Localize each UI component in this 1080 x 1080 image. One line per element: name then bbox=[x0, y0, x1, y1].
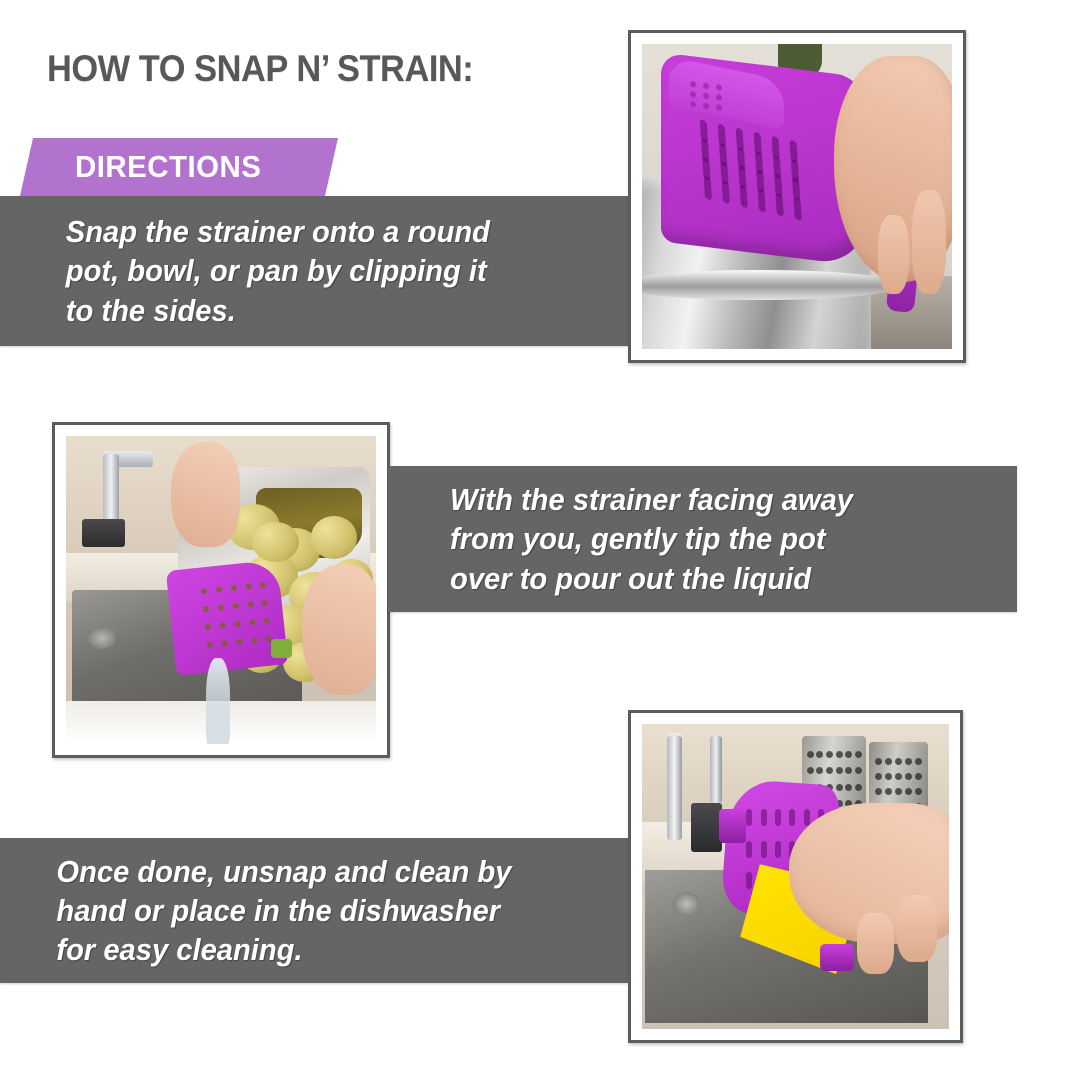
step-2-caption-bar: With the strainer facing away from you, … bbox=[388, 466, 1017, 612]
photo-pour-liquid-into-sink bbox=[66, 436, 376, 744]
step-2-photo-frame bbox=[52, 422, 390, 758]
infographic-root: HOW TO SNAP N’ STRAIN: DIRECTIONS Snap t… bbox=[0, 0, 1080, 1080]
photo-snap-strainer-on-pot bbox=[642, 44, 952, 349]
step-3-photo-frame bbox=[628, 710, 963, 1043]
step-1-caption-text: Snap the strainer onto a round pot, bowl… bbox=[0, 212, 490, 329]
step-1-photo-frame bbox=[628, 30, 966, 363]
step-3-caption-bar: Once done, unsnap and clean by hand or p… bbox=[0, 838, 628, 983]
directions-banner: DIRECTIONS bbox=[20, 138, 338, 196]
directions-banner-label: DIRECTIONS bbox=[75, 149, 261, 185]
step-2-caption-text: With the strainer facing away from you, … bbox=[388, 480, 853, 597]
page-title: HOW TO SNAP N’ STRAIN: bbox=[47, 48, 473, 90]
step-3-caption-text: Once done, unsnap and clean by hand or p… bbox=[0, 852, 511, 969]
step-1-caption-bar: Snap the strainer onto a round pot, bowl… bbox=[0, 196, 628, 346]
photo-clean-strainer-with-cloth bbox=[642, 724, 949, 1029]
